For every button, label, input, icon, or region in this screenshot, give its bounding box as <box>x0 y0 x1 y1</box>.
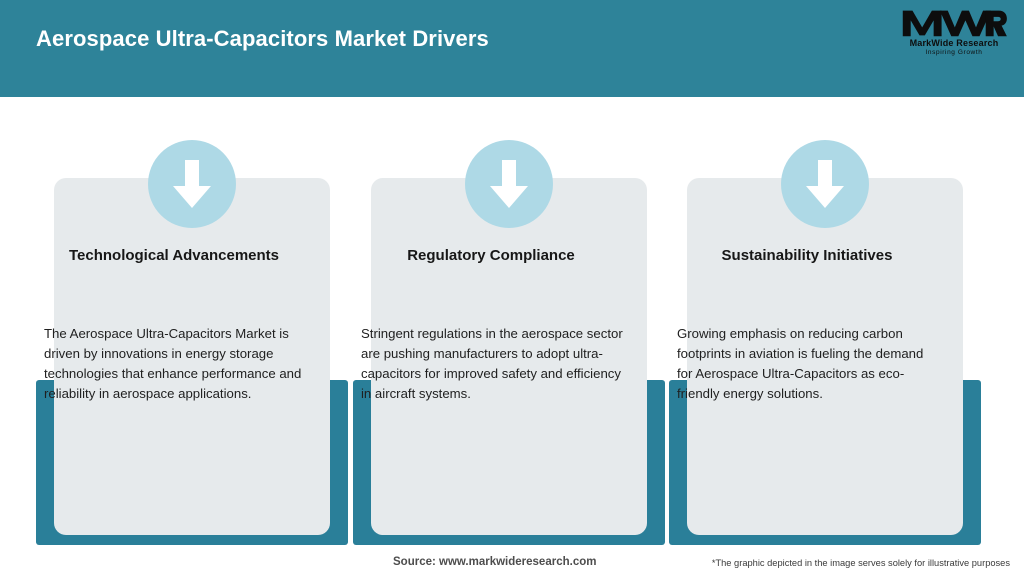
card-title: Regulatory Compliance <box>363 247 619 265</box>
card-title: Sustainability Initiatives <box>679 247 935 265</box>
card-body: Stringent regulations in the aerospace s… <box>361 324 625 404</box>
source-label: Source: www.markwideresearch.com <box>393 556 596 568</box>
driver-card[interactable]: Regulatory Compliance Stringent regulati… <box>353 97 665 547</box>
page-title: Aerospace Ultra-Capacitors Market Driver… <box>36 26 489 52</box>
card-body: The Aerospace Ultra-Capacitors Market is… <box>44 324 308 404</box>
brand-logo: MarkWide Research Inspiring Growth <box>900 8 1008 64</box>
driver-card[interactable]: Technological Advancements The Aerospace… <box>36 97 348 547</box>
driver-cards-row: Technological Advancements The Aerospace… <box>0 97 1024 547</box>
arrow-down-icon <box>465 140 553 228</box>
arrow-down-icon <box>148 140 236 228</box>
disclaimer-note: *The graphic depicted in the image serve… <box>712 558 1010 568</box>
header-bar: Aerospace Ultra-Capacitors Market Driver… <box>0 0 1024 97</box>
logo-tagline: Inspiring Growth <box>926 50 983 57</box>
logo-company-name: MarkWide Research <box>910 39 999 48</box>
card-body: Growing emphasis on reducing carbon foot… <box>677 324 941 404</box>
arrow-down-icon <box>781 140 869 228</box>
card-title: Technological Advancements <box>46 247 302 265</box>
mwr-logo-icon <box>901 8 1007 38</box>
driver-card[interactable]: Sustainability Initiatives Growing empha… <box>669 97 981 547</box>
